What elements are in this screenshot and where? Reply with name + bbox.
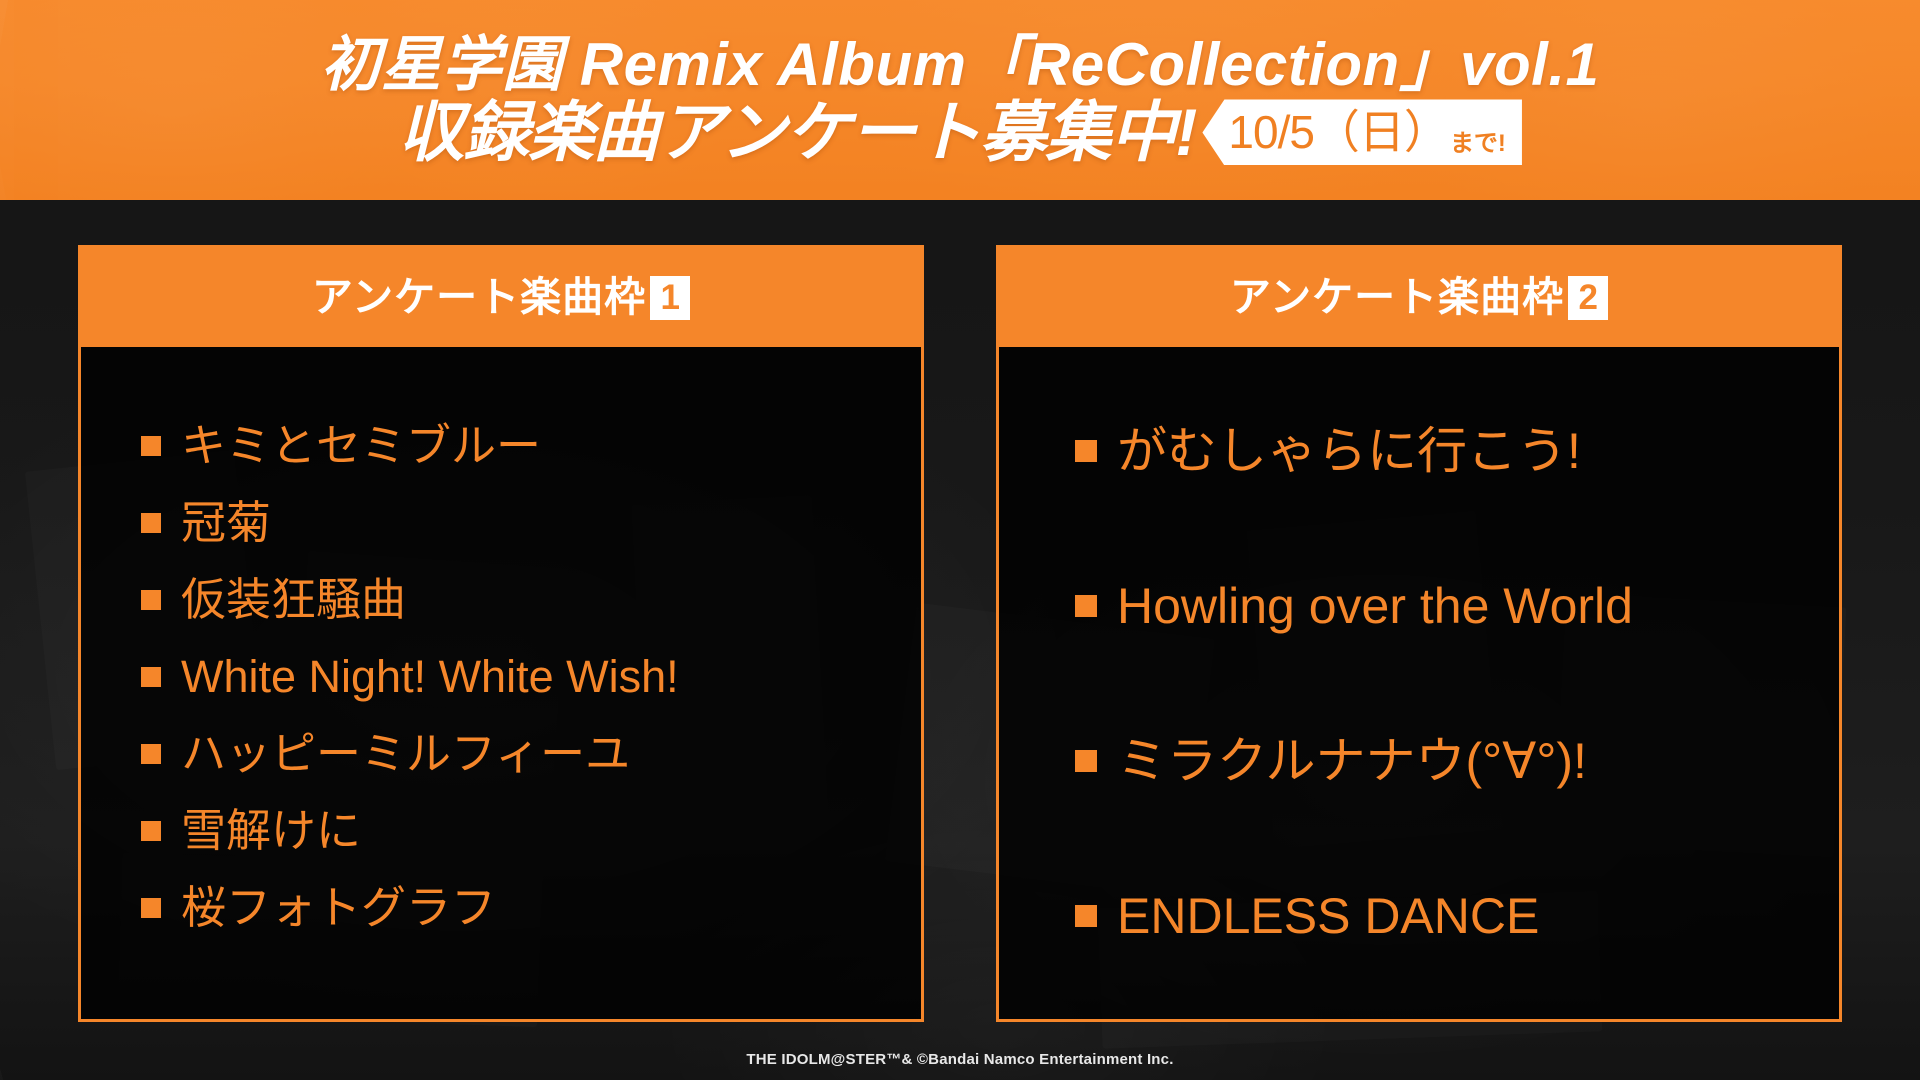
bullet-square-icon: [141, 744, 161, 764]
bullet-square-icon: [141, 667, 161, 687]
song-title: ミラクルナナウ(°∀°)!: [1117, 736, 1587, 786]
song-title: キミとセミブルー: [181, 423, 541, 468]
song-title: White Night! White Wish!: [181, 654, 679, 699]
bullet-square-icon: [1075, 595, 1097, 617]
list-item[interactable]: ミラクルナナウ(°∀°)!: [1075, 683, 1839, 838]
bullet-square-icon: [141, 590, 161, 610]
song-title: 冠菊: [181, 500, 271, 545]
song-title: 桜フォトグラフ: [181, 885, 496, 930]
page-title-line2: 収録楽曲アンケート募集中!: [398, 98, 1196, 167]
list-item[interactable]: Howling over the World: [1075, 528, 1839, 683]
bullet-square-icon: [1075, 440, 1097, 462]
deadline-badge: 10/5（日） まで!: [1202, 99, 1522, 165]
panel-2-number-badge: 2: [1568, 276, 1608, 320]
panel-2-title: アンケート楽曲枠: [1230, 277, 1564, 318]
list-item[interactable]: 仮装狂騒曲: [141, 561, 921, 638]
deadline-suffix: まで!: [1450, 132, 1506, 156]
panel-1-song-list: キミとセミブルー 冠菊 仮装狂騒曲 White Night! White Wis…: [81, 347, 921, 1019]
bullet-square-icon: [141, 821, 161, 841]
list-item[interactable]: 雪解けに: [141, 792, 921, 869]
list-item[interactable]: がむしゃらに行こう!: [1075, 373, 1839, 528]
bullet-square-icon: [1075, 905, 1097, 927]
song-title: ハッピーミルフィーユ: [181, 731, 630, 776]
panel-1-title: アンケート楽曲枠: [312, 277, 646, 318]
page-title-line1: 初星学園 Remix Album「ReCollection」vol.1: [321, 33, 1600, 96]
list-item[interactable]: ハッピーミルフィーユ: [141, 715, 921, 792]
song-title: 仮装狂騒曲: [181, 577, 406, 622]
poster-root: 初星学園 Remix Album「ReCollection」vol.1 収録楽曲…: [0, 0, 1920, 1080]
bullet-square-icon: [1075, 750, 1097, 772]
title-row-with-badge: 収録楽曲アンケート募集中! 10/5（日） まで!: [398, 98, 1522, 167]
bullet-square-icon: [141, 898, 161, 918]
panel-1-header: アンケート楽曲枠 1: [81, 248, 921, 347]
song-title: 雪解けに: [181, 808, 361, 853]
bullet-square-icon: [141, 436, 161, 456]
bullet-square-icon: [141, 513, 161, 533]
song-panel-1: アンケート楽曲枠 1 キミとセミブルー 冠菊 仮装狂騒曲 Wh: [78, 245, 924, 1022]
list-item[interactable]: ENDLESS DANCE: [1075, 838, 1839, 993]
copyright-footer: THE IDOLM@STER™& ©Bandai Namco Entertain…: [0, 1051, 1920, 1068]
panel-2-header: アンケート楽曲枠 2: [999, 248, 1839, 347]
header-banner: 初星学園 Remix Album「ReCollection」vol.1 収録楽曲…: [0, 0, 1920, 200]
panels-container: アンケート楽曲枠 1 キミとセミブルー 冠菊 仮装狂騒曲 Wh: [0, 200, 1920, 1080]
deadline-date: 10/5（日）: [1228, 109, 1449, 155]
song-title: Howling over the World: [1117, 581, 1633, 631]
song-title: ENDLESS DANCE: [1117, 891, 1539, 941]
panel-2-song-list: がむしゃらに行こう! Howling over the World ミラクルナナ…: [999, 347, 1839, 1019]
song-title: がむしゃらに行こう!: [1117, 426, 1581, 476]
list-item[interactable]: 冠菊: [141, 484, 921, 561]
list-item[interactable]: キミとセミブルー: [141, 407, 921, 484]
list-item[interactable]: 桜フォトグラフ: [141, 869, 921, 946]
song-panel-2: アンケート楽曲枠 2 がむしゃらに行こう! Howling over the W…: [996, 245, 1842, 1022]
panel-1-number-badge: 1: [650, 276, 690, 320]
list-item[interactable]: White Night! White Wish!: [141, 638, 921, 715]
